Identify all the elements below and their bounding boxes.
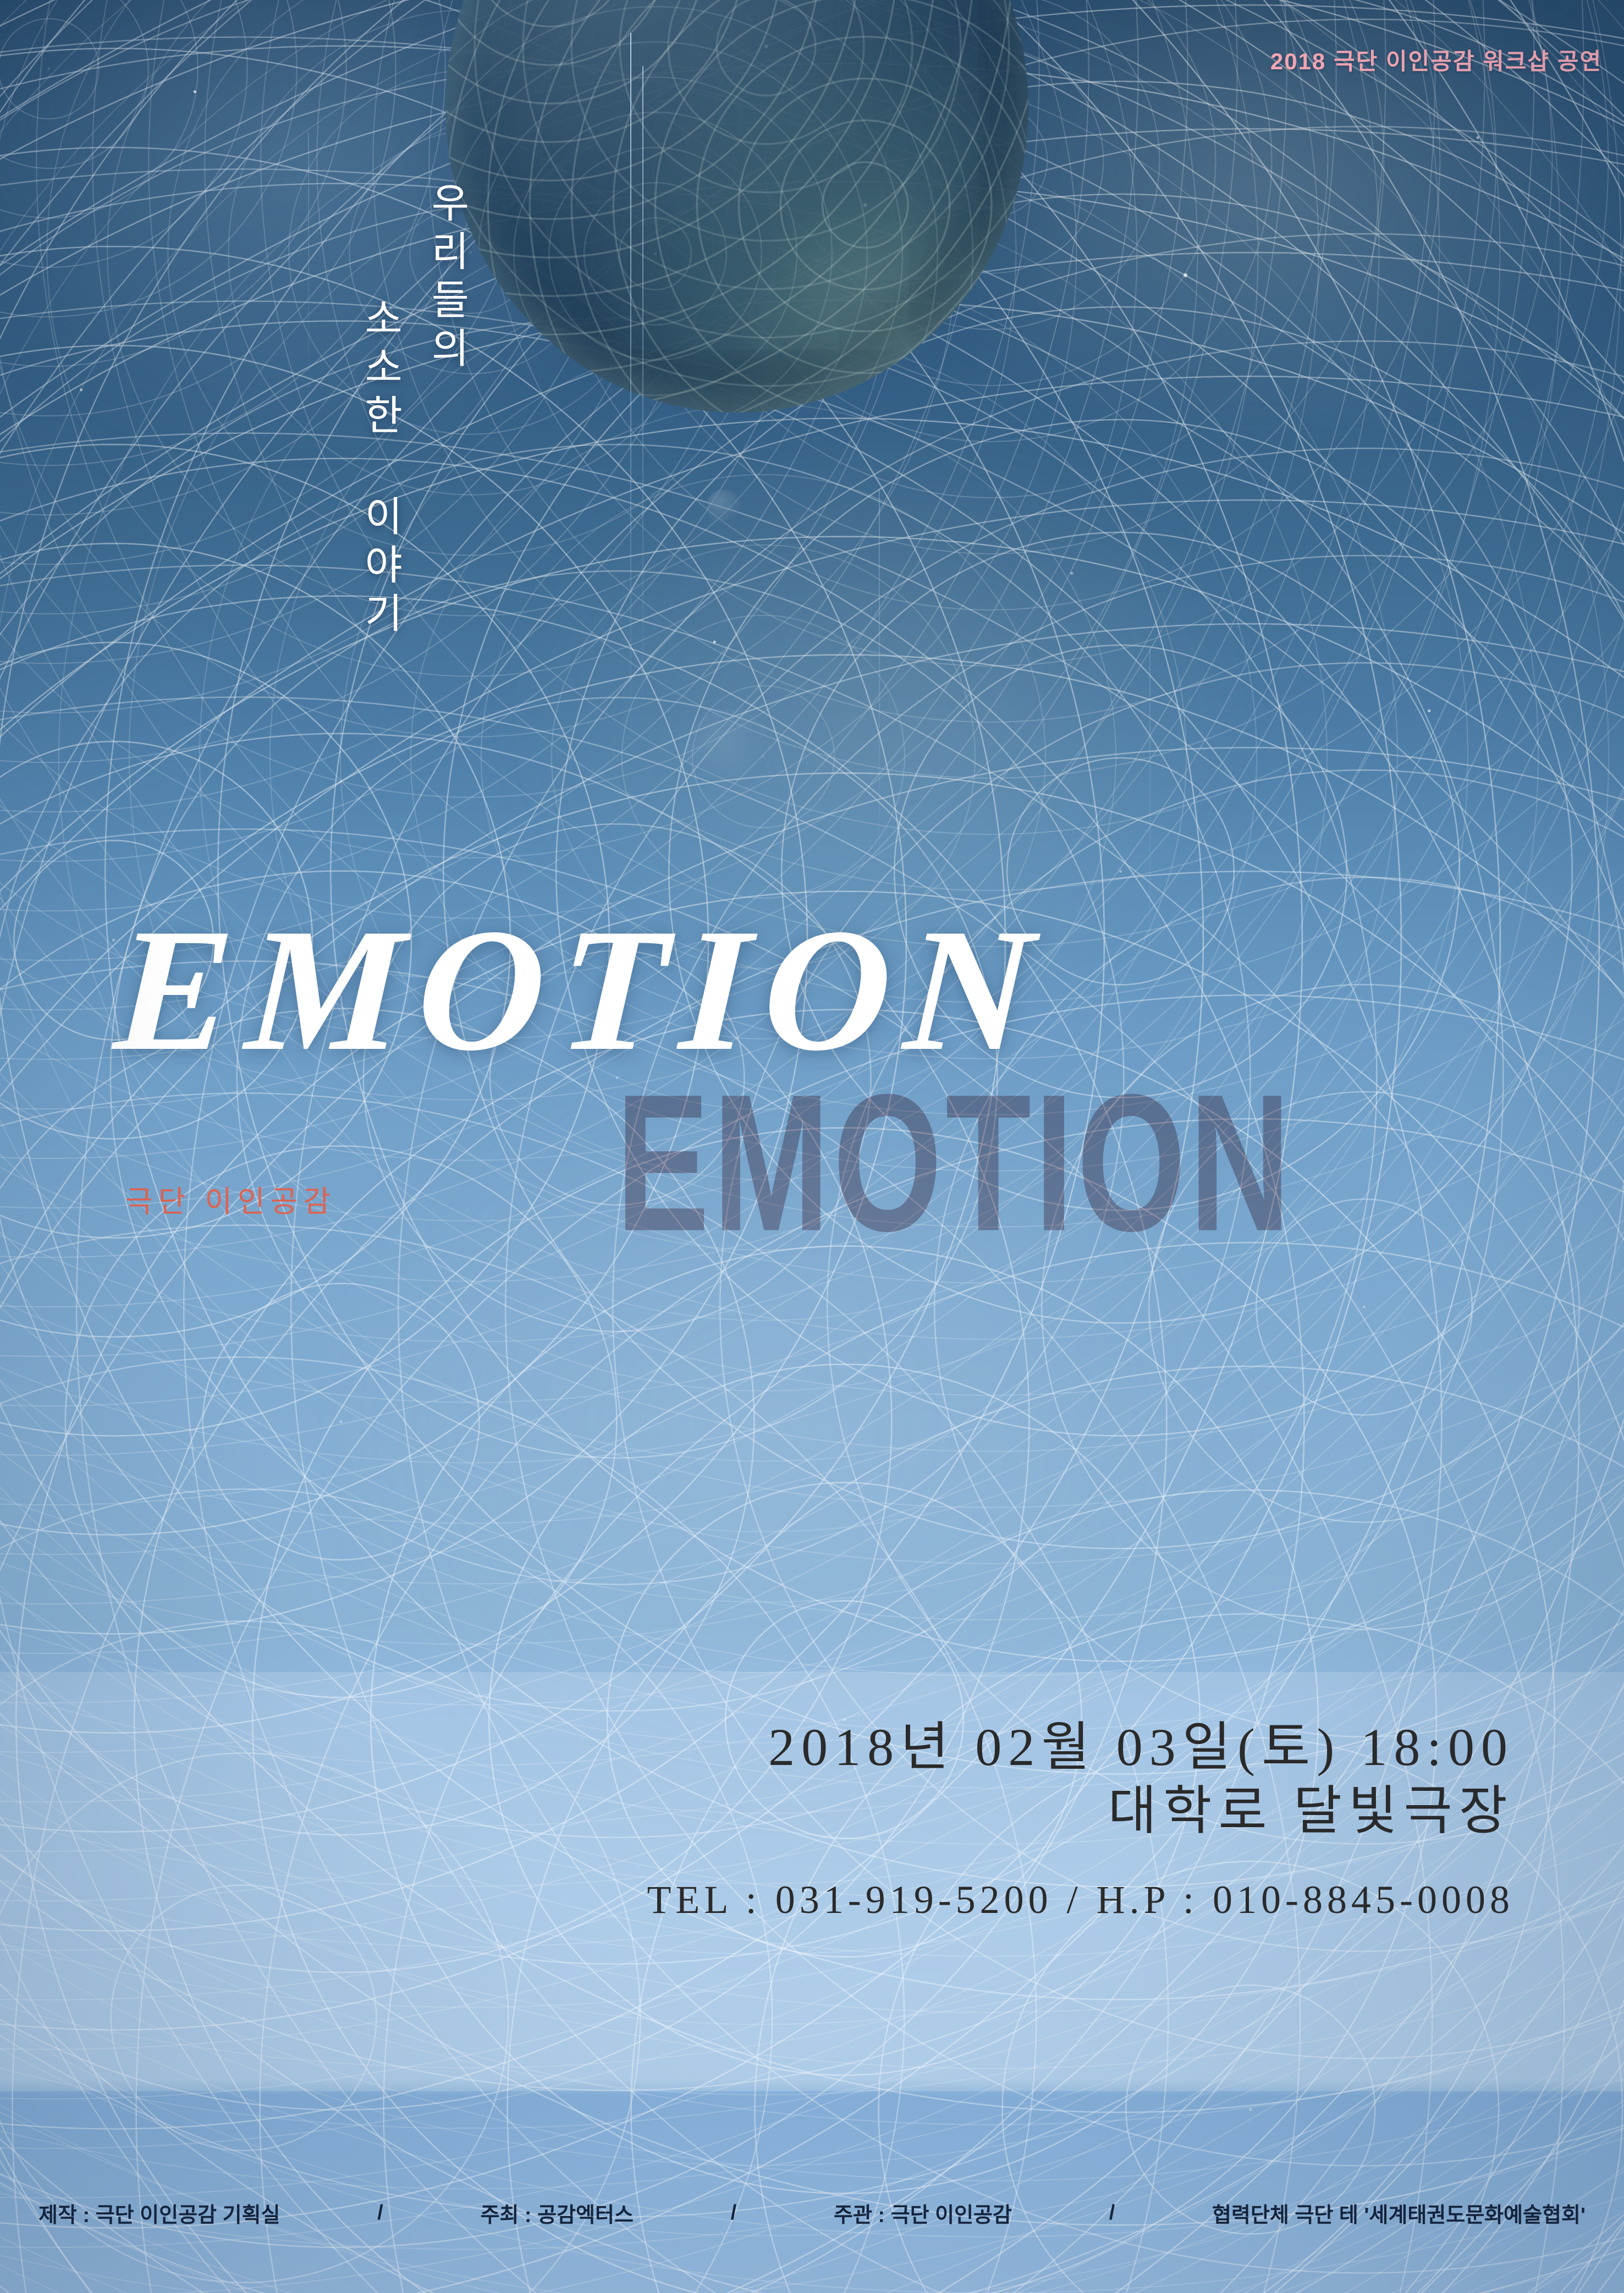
credit-partner: 협력단체 극단 테 '세계태권도문화예술협회' bbox=[1212, 2198, 1586, 2228]
company-name: 극단 이인공감 bbox=[125, 1177, 336, 1220]
light-streak-icon bbox=[308, 132, 309, 418]
vertical-subtitle: 우리들의 소소한 이야기 bbox=[352, 182, 473, 640]
title-block: EMOTION EMOTION 극단 이인공감 bbox=[0, 891, 1624, 1276]
event-date: 2018년 02월 03일(토) 18:00 bbox=[0, 1716, 1514, 1778]
credit-organizer: 주관 : 극단 이인공감 bbox=[834, 2198, 1012, 2228]
vertical-subtitle-column-right: 우리들의 bbox=[419, 182, 473, 375]
light-streak-icon bbox=[879, 490, 880, 886]
header-tagline: 2018 극단 이인공감 워크샵 공연 bbox=[1270, 43, 1602, 76]
planet-rim-light bbox=[445, 0, 1028, 413]
credit-production: 제작 : 극단 이인공감 기획실 bbox=[38, 2198, 280, 2228]
small-moon-icon bbox=[707, 490, 741, 524]
faint-orb-icon bbox=[687, 710, 770, 792]
page-title: EMOTION bbox=[111, 902, 1052, 1078]
contact-phone: TEL : 031-919-5200 / H.P : 010-8845-0008 bbox=[0, 1877, 1514, 1923]
event-info-block: 2018년 02월 03일(토) 18:00 대학로 달빛극장 TEL : 03… bbox=[0, 1716, 1624, 1923]
planet-moon-icon bbox=[445, 0, 1028, 413]
credit-separator: / bbox=[726, 2201, 741, 2225]
credit-separator: / bbox=[1105, 2201, 1120, 2225]
credit-host: 주최 : 공감엑터스 bbox=[480, 2198, 634, 2228]
footer-credits: 제작 : 극단 이인공감 기획실 / 주최 : 공감엑터스 / 주관 : 극단 … bbox=[0, 2198, 1624, 2228]
credit-separator: / bbox=[373, 2201, 388, 2225]
vertical-subtitle-column-left: 소소한 이야기 bbox=[352, 297, 406, 640]
event-venue: 대학로 달빛극장 bbox=[0, 1778, 1514, 1844]
poster-canvas: 2018 극단 이인공감 워크샵 공연 우리들의 소소한 이야기 EMOTION… bbox=[0, 0, 1624, 2293]
